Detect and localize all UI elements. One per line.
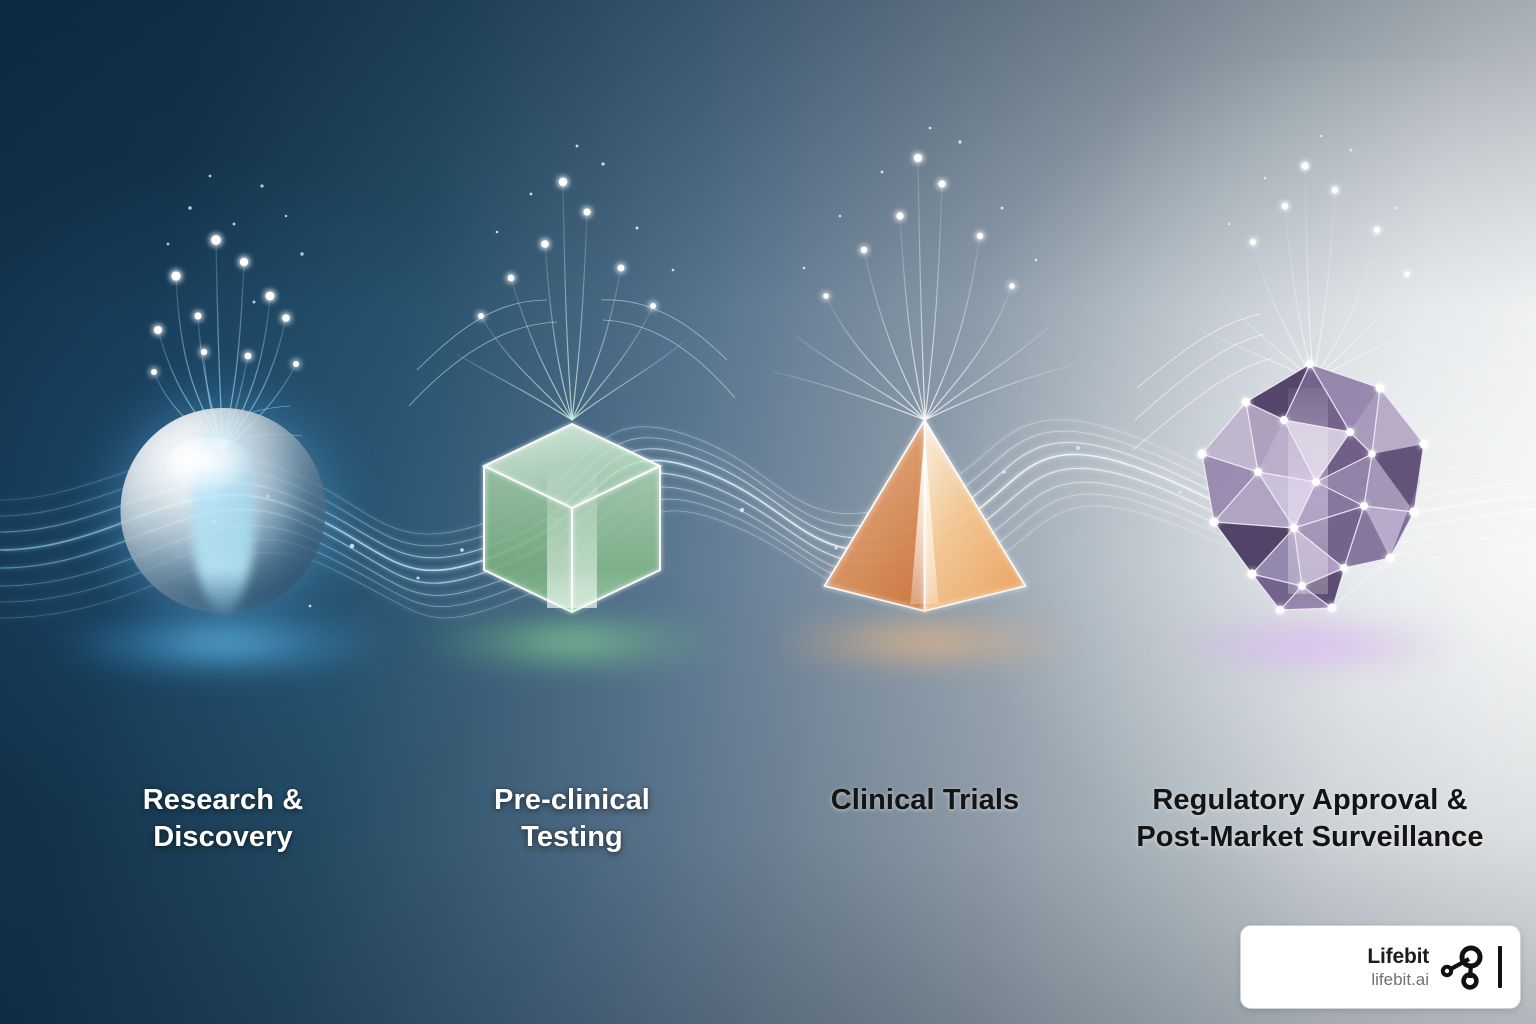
shape-glass-sphere (58, 120, 388, 650)
badge-brand-name: Lifebit (1367, 945, 1429, 969)
badge-logo-mark (1439, 942, 1502, 992)
badge-brand-url: lifebit.ai (1367, 970, 1429, 989)
ground-glow-clinical (775, 616, 1075, 668)
vertical-bar-icon (1498, 946, 1502, 988)
stage-pre-clinical-testing[interactable]: Pre-clinical Testing (407, 120, 737, 760)
stage-label-clinical-trials: Clinical Trials (715, 782, 1135, 819)
stage-research-discovery[interactable]: Research & Discovery (58, 120, 388, 760)
ground-glow-research (58, 612, 388, 676)
polyhedron-body (1184, 358, 1436, 620)
badge-text-block: Lifebit lifebit.ai (1367, 945, 1429, 990)
stage-clinical-trials[interactable]: Clinical Trials (760, 120, 1090, 760)
stage-label-regulatory-approval: Regulatory Approval & Post-Market Survei… (1100, 782, 1520, 856)
lifebit-badge[interactable]: Lifebit lifebit.ai (1240, 925, 1521, 1009)
node-graph-icon (1439, 942, 1489, 992)
pyramid-body (813, 414, 1038, 629)
stage-regulatory-approval[interactable]: Regulatory Approval & Post-Market Survei… (1145, 120, 1475, 760)
ground-glow-regulatory (1165, 618, 1455, 672)
shape-purple-polyhedron (1145, 120, 1475, 650)
cube-body (477, 418, 667, 618)
pipeline-illustration: Research & Discovery (0, 0, 1536, 1024)
shape-orange-pyramid (760, 120, 1090, 650)
ground-glow-preclinical (422, 614, 722, 670)
shape-green-cube (407, 120, 737, 650)
sphere-highlight (166, 437, 256, 494)
stage-row: Research & Discovery (0, 0, 1536, 1024)
sphere-body (121, 408, 326, 613)
